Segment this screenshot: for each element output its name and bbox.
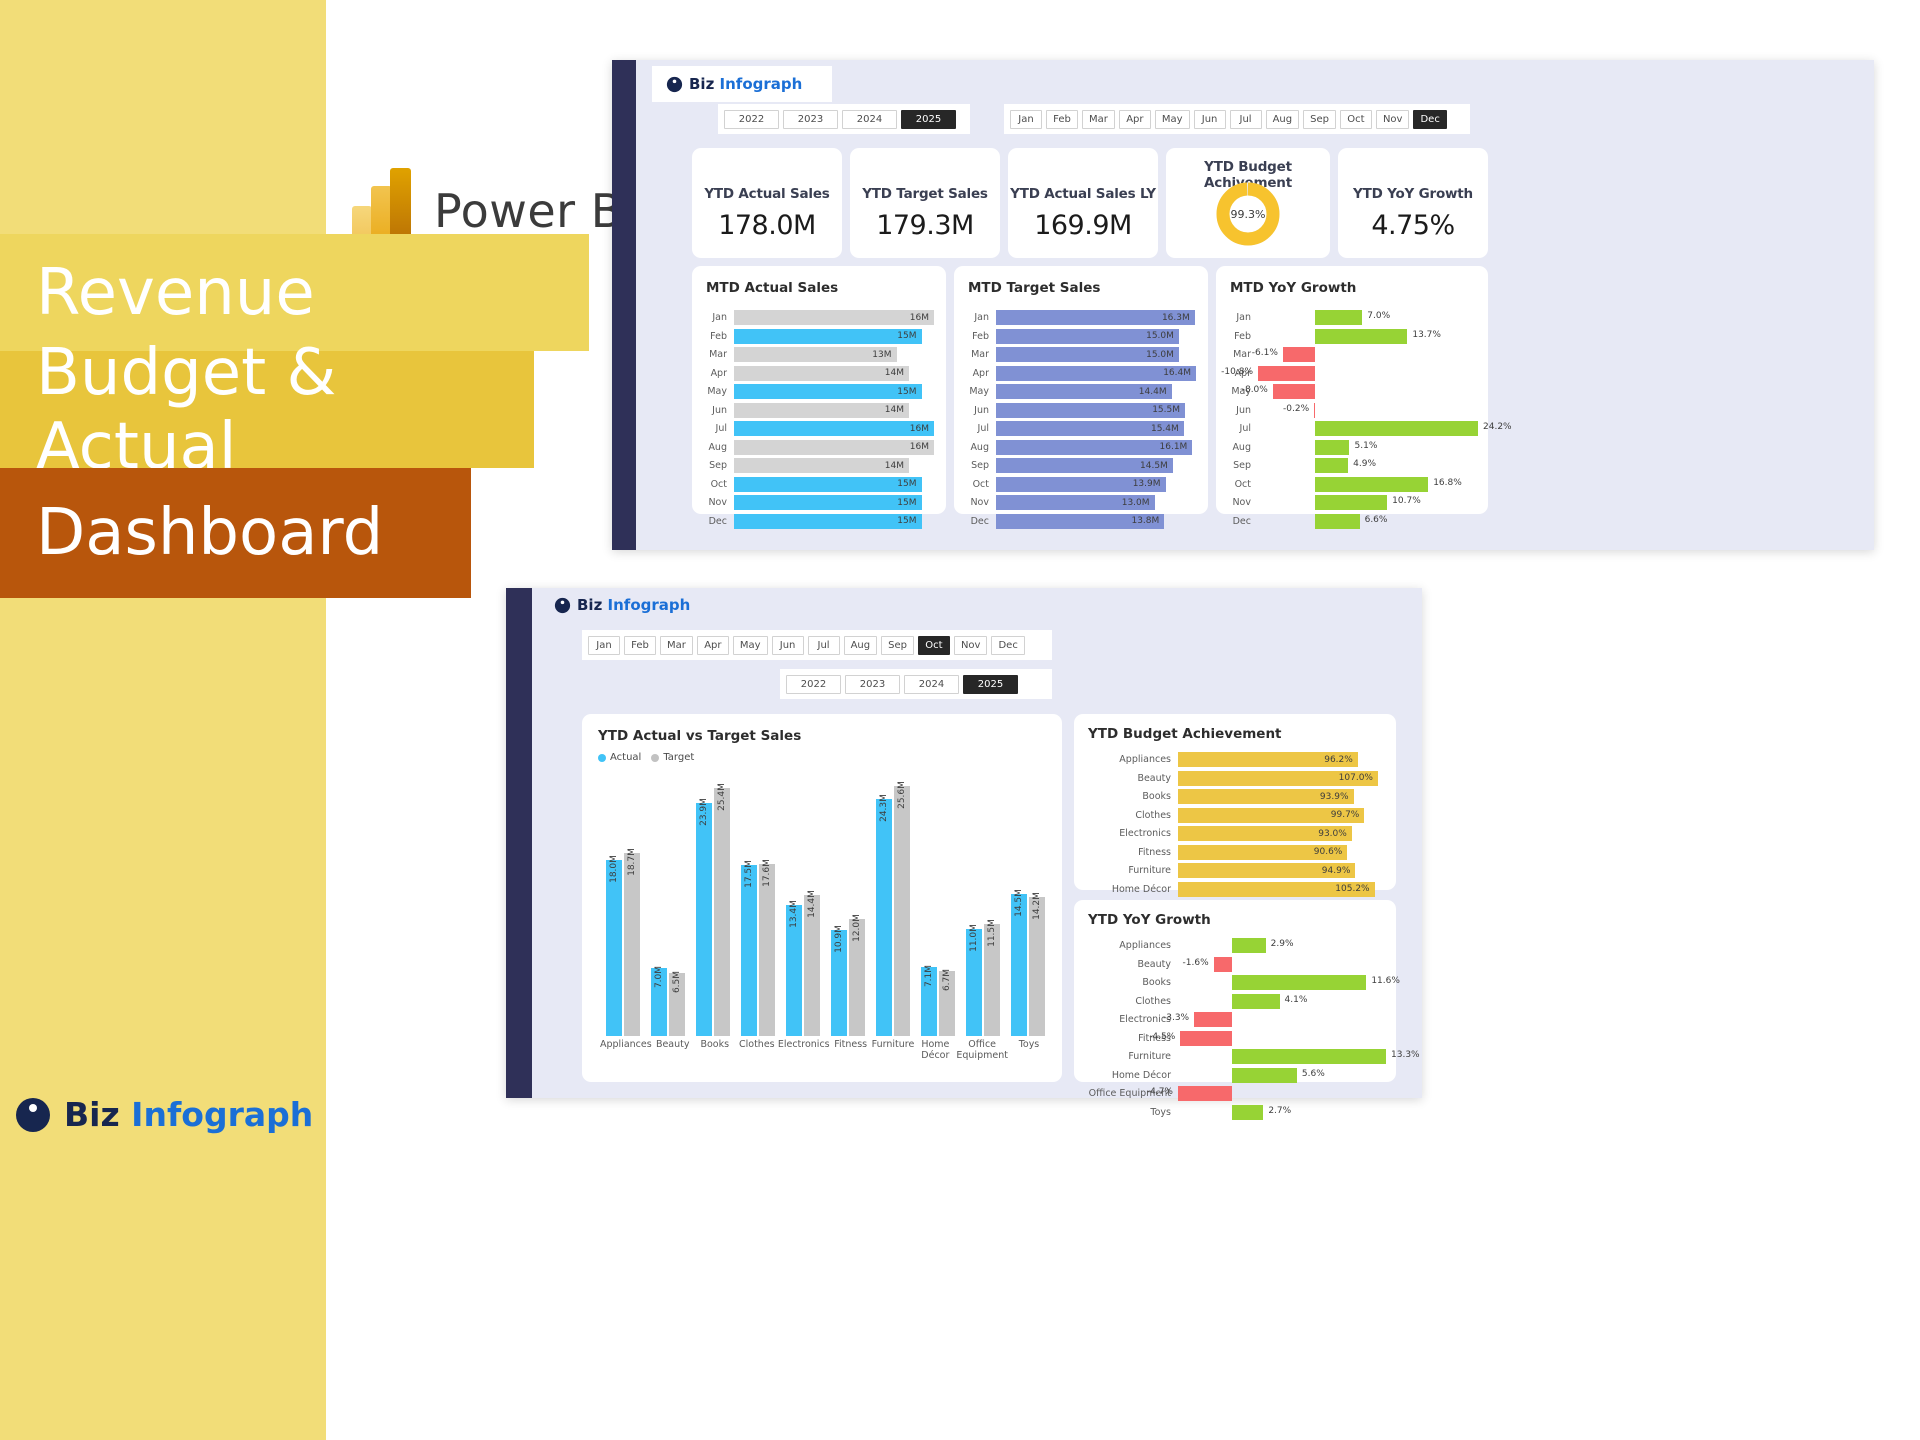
month-option-feb[interactable]: Feb <box>624 636 656 655</box>
month-option-feb[interactable]: Feb <box>1046 110 1078 129</box>
bar-row-fill: 99.7% <box>1178 808 1364 823</box>
column-bar-value: 14.5M <box>1014 890 1024 918</box>
bar-row-track: 15.5M <box>996 403 1196 418</box>
bar-row-label: Apr <box>962 368 996 379</box>
month-option-jul[interactable]: Jul <box>1230 110 1262 129</box>
column-category-label: Books <box>694 1040 736 1070</box>
column-bar-target: 18.7M <box>624 853 640 1036</box>
kpi-value: 4.75% <box>1338 210 1488 241</box>
month-option-oct[interactable]: Oct <box>1340 110 1372 129</box>
bar-row-label: Home Décor <box>1082 884 1178 895</box>
diverging-bar-row: Jun-0.2% <box>1224 403 1478 418</box>
bar-row: Mar15.0M <box>962 347 1196 362</box>
promo-title-line-2: Budget & Actual <box>0 351 534 468</box>
bar-row-track: 15.0M <box>996 347 1196 362</box>
actual-vs-target-category-axis: AppliancesBeautyBooksClothesElectronicsF… <box>600 1040 1050 1070</box>
bottom-year-slicer[interactable]: 2022202320242025 <box>780 669 1052 699</box>
month-option-may[interactable]: May <box>1155 110 1190 129</box>
column-bar-target: 6.7M <box>939 971 955 1036</box>
column-group: 11.0M11.5M <box>960 924 1005 1036</box>
chart-card-mtd-target-sales: MTD Target Sales Jan16.3MFeb15.0MMar15.0… <box>954 266 1208 514</box>
diverging-bar-row: May-8.0% <box>1224 384 1478 399</box>
bar-row-value: 15M <box>897 331 921 341</box>
kpi-title: YTD Actual Sales <box>692 186 842 202</box>
month-option-jun[interactable]: Jun <box>1194 110 1226 129</box>
diverging-bar-value: 24.2% <box>1483 422 1512 432</box>
dashboard-mockup-page: Power BI Revenue Budget & Actual Dashboa… <box>0 0 1920 1440</box>
year-option-2023[interactable]: 2023 <box>783 110 838 129</box>
kpi-value: 179.3M <box>850 210 1000 241</box>
diverging-bar-label: Toys <box>1082 1107 1178 1118</box>
column-bar-target: 25.6M <box>894 786 910 1036</box>
logo-biz: Biz <box>689 75 714 93</box>
diverging-bar-row: Oct16.8% <box>1224 477 1478 492</box>
diverging-bar-track: 11.6% <box>1178 975 1386 990</box>
bar-row-track: 15M <box>734 477 934 492</box>
diverging-bar-fill <box>1232 1068 1297 1083</box>
bar-row-fill: 14M <box>734 403 909 418</box>
bar-row-value: 13.8M <box>1131 516 1164 526</box>
diverging-bar-value: -3.3% <box>1163 1013 1189 1023</box>
year-option-2023[interactable]: 2023 <box>845 675 900 694</box>
bar-row-track: 16M <box>734 440 934 455</box>
bar-row-label: Clothes <box>1082 810 1178 821</box>
bar-row: Nov13.0M <box>962 495 1196 510</box>
chart-title: MTD YoY Growth <box>1230 280 1488 296</box>
bottom-dashboard-logo: Biz Infograph <box>554 596 690 614</box>
diverging-bar-row: Fitness-4.5% <box>1082 1031 1386 1046</box>
top-dashboard: Biz Infograph ... 2022202320242025 JanFe… <box>612 60 1874 550</box>
diverging-bar-track: 4.1% <box>1178 994 1386 1009</box>
column-bar-value: 23.9M <box>699 798 709 826</box>
diverging-bar-fill <box>1214 957 1232 972</box>
bar-row-track: 14.5M <box>996 458 1196 473</box>
chart-title: YTD Actual vs Target Sales <box>598 728 1062 744</box>
bar-row-value: 15.0M <box>1146 350 1179 360</box>
bar-row: Oct13.9M <box>962 477 1196 492</box>
column-category-label: Beauty <box>652 1040 694 1070</box>
diverging-bar-row: Aug5.1% <box>1224 440 1478 455</box>
diverging-bar-row: Mar-6.1% <box>1224 347 1478 362</box>
month-option-may[interactable]: May <box>733 636 768 655</box>
bar-row-label: Furniture <box>1082 865 1178 876</box>
diverging-bar-row: Appliances2.9% <box>1082 938 1386 953</box>
bar-row: Fitness90.6% <box>1082 845 1378 860</box>
top-dashboard-logo-text: Biz Infograph <box>689 75 802 93</box>
column-bar-actual: 13.4M <box>786 905 802 1036</box>
bar-row: Sep14.5M <box>962 458 1196 473</box>
diverging-bar-track: 5.1% <box>1258 440 1478 455</box>
column-bar-actual: 11.0M <box>966 929 982 1036</box>
bar-row-value: 15.4M <box>1151 424 1184 434</box>
diverging-bar-label: Home Décor <box>1082 1070 1178 1081</box>
bar-row-value: 15M <box>897 387 921 397</box>
bar-row-fill: 16M <box>734 421 934 436</box>
bottom-dashboard: Biz Infograph JanFebMarAprMayJunJulAugSe… <box>506 588 1422 1098</box>
top-year-slicer[interactable]: 2022202320242025 <box>718 104 970 134</box>
bar-row-label: Books <box>1082 791 1178 802</box>
diverging-bar-track: 6.6% <box>1258 514 1478 529</box>
mtd-yoy-growth-bar-list: Jan7.0%Feb13.7%Mar-6.1%Apr-10.8%May-8.0%… <box>1224 310 1478 529</box>
column-bar-actual: 17.5M <box>741 865 757 1036</box>
bar-row-value: 16M <box>910 442 934 452</box>
bar-row-track: 90.6% <box>1178 845 1378 860</box>
column-bar-value: 14.2M <box>1032 892 1042 920</box>
year-option-2025[interactable]: 2025 <box>901 110 956 129</box>
month-option-jun[interactable]: Jun <box>772 636 804 655</box>
bar-row: May15M <box>700 384 934 399</box>
column-bar-value: 12.0M <box>852 914 862 942</box>
bar-row-fill: 15.0M <box>996 347 1179 362</box>
footer-logo-biz: Biz <box>64 1095 120 1134</box>
bar-row-label: Fitness <box>1082 847 1178 858</box>
bar-row-value: 15M <box>897 498 921 508</box>
kpi-title: YTD Target Sales <box>850 186 1000 202</box>
diverging-bar-track: 2.7% <box>1178 1105 1386 1120</box>
bar-row-label: Mar <box>700 349 734 360</box>
diverging-bar-label: Jan <box>1224 312 1258 323</box>
diverging-bar-row: Jul24.2% <box>1224 421 1478 436</box>
bottom-month-slicer[interactable]: JanFebMarAprMayJunJulAugSepOctNovDec <box>582 630 1052 660</box>
bar-row-value: 16.4M <box>1163 368 1196 378</box>
kpi-card-ytd-budget-achievement: YTD Budget Achivement 99.3% <box>1166 148 1330 258</box>
bar-row-value: 13M <box>872 350 896 360</box>
diverging-bar-label: Books <box>1082 977 1178 988</box>
chart-title: MTD Target Sales <box>968 280 1208 296</box>
month-option-mar[interactable]: Mar <box>660 636 693 655</box>
bar-row: Jul15.4M <box>962 421 1196 436</box>
bar-row-label: Oct <box>700 479 734 490</box>
bar-row-fill: 16.3M <box>996 310 1195 325</box>
column-category-label: Appliances <box>600 1040 652 1070</box>
month-option-mar[interactable]: Mar <box>1082 110 1115 129</box>
bar-row-label: Appliances <box>1082 754 1178 765</box>
bar-row-track: 13.0M <box>996 495 1196 510</box>
biz-infograph-footer-logo: Biz Infograph <box>14 1095 313 1134</box>
year-option-2022[interactable]: 2022 <box>724 110 779 129</box>
bar-row-track: 16M <box>734 421 934 436</box>
diverging-bar-value: 5.1% <box>1355 441 1378 451</box>
diverging-bar-row: Sep4.9% <box>1224 458 1478 473</box>
bar-row-value: 14.4M <box>1139 387 1172 397</box>
column-bar-actual: 23.9M <box>696 803 712 1036</box>
diverging-bar-row: Office Equipment-4.7% <box>1082 1086 1386 1101</box>
bar-row: Dec15M <box>700 514 934 529</box>
bar-row: Electronics93.0% <box>1082 826 1378 841</box>
column-bar-value: 7.1M <box>924 965 934 987</box>
footer-logo-infograph: Infograph <box>131 1095 313 1134</box>
diverging-bar-value: -8.0% <box>1242 385 1268 395</box>
month-option-nov[interactable]: Nov <box>954 636 988 655</box>
bar-row-label: Jun <box>962 405 996 416</box>
bar-row-track: 105.2% <box>1178 882 1378 897</box>
diverging-bar-fill <box>1180 1031 1232 1046</box>
bar-row-track: 16M <box>734 310 934 325</box>
bar-row-value: 93.9% <box>1320 792 1354 802</box>
bar-row-track: 93.9% <box>1178 789 1378 804</box>
diverging-bar-value: -4.7% <box>1147 1087 1173 1097</box>
bar-row-value: 16M <box>910 313 934 323</box>
bar-row: Books93.9% <box>1082 789 1378 804</box>
bar-row-track: 16.4M <box>996 366 1196 381</box>
bar-row-value: 16M <box>910 424 934 434</box>
bar-row-label: Oct <box>962 479 996 490</box>
kpi-card-ytd-yoy-growth: YTD YoY Growth 4.75% <box>1338 148 1488 258</box>
bar-row-track: 15M <box>734 329 934 344</box>
bar-row: Feb15M <box>700 329 934 344</box>
bar-row: Home Décor105.2% <box>1082 882 1378 897</box>
bar-row-label: Aug <box>962 442 996 453</box>
kpi-title: YTD YoY Growth <box>1338 186 1488 202</box>
power-bi-label: Power BI <box>434 184 637 238</box>
chart-card-ytd-yoy-growth: YTD YoY Growth Appliances2.9%Beauty-1.6%… <box>1074 900 1396 1082</box>
diverging-bar-track: 24.2% <box>1258 421 1478 436</box>
bar-row-track: 15M <box>734 384 934 399</box>
bar-row-fill: 15M <box>734 514 922 529</box>
bar-row-fill: 15M <box>734 384 922 399</box>
diverging-bar-track: 10.7% <box>1258 495 1478 510</box>
promo-title-line-1: Revenue <box>0 234 589 351</box>
year-option-2024[interactable]: 2024 <box>842 110 897 129</box>
legend-dot-target <box>651 754 659 762</box>
diverging-bar-fill <box>1283 347 1315 362</box>
diverging-bar-value: 10.7% <box>1392 496 1421 506</box>
bar-row-fill: 14.5M <box>996 458 1173 473</box>
column-bar-value: 11.5M <box>987 919 997 947</box>
month-option-sep[interactable]: Sep <box>881 636 914 655</box>
year-option-2025[interactable]: 2025 <box>963 675 1018 694</box>
bar-row-label: Aug <box>700 442 734 453</box>
bar-row-label: Jun <box>700 405 734 416</box>
bar-row: Sep14M <box>700 458 934 473</box>
bar-row-label: Jan <box>962 312 996 323</box>
diverging-bar-fill <box>1314 403 1315 418</box>
column-group: 14.5M14.2M <box>1005 894 1050 1036</box>
bar-row-fill: 90.6% <box>1178 845 1347 860</box>
bar-row-fill: 107.0% <box>1178 771 1378 786</box>
bar-row-value: 105.2% <box>1335 884 1374 894</box>
month-option-dec[interactable]: Dec <box>1413 110 1446 129</box>
promo-title-line-2-text: Budget & Actual <box>36 336 534 484</box>
bottom-dashboard-logo-text: Biz Infograph <box>577 596 690 614</box>
year-option-2022[interactable]: 2022 <box>786 675 841 694</box>
diverging-bar-track: -4.5% <box>1178 1031 1386 1046</box>
bar-row: Jan16.3M <box>962 310 1196 325</box>
diverging-bar-row: Electronics-3.3% <box>1082 1012 1386 1027</box>
bar-row-track: 94.9% <box>1178 863 1378 878</box>
bar-row-track: 107.0% <box>1178 771 1378 786</box>
bar-row-value: 14M <box>885 405 909 415</box>
bar-row-fill: 15M <box>734 477 922 492</box>
column-bar-target: 12.0M <box>849 919 865 1036</box>
column-bar-value: 24.3M <box>879 794 889 822</box>
bar-row-track: 15M <box>734 514 934 529</box>
column-group: 7.0M6.5M <box>645 968 690 1036</box>
diverging-bar-value: 2.9% <box>1271 939 1294 949</box>
diverging-bar-fill <box>1232 975 1366 990</box>
column-bar-value: 6.5M <box>672 970 682 992</box>
diverging-bar-fill <box>1178 1086 1232 1101</box>
biz-infograph-pie-icon <box>14 1096 52 1134</box>
bar-row-label: Nov <box>700 497 734 508</box>
diverging-bar-label: Beauty <box>1082 959 1178 970</box>
bar-row-fill: 16M <box>734 310 934 325</box>
bar-row-label: Beauty <box>1082 773 1178 784</box>
diverging-bar-fill <box>1315 514 1359 529</box>
column-bar-actual: 10.9M <box>831 930 847 1036</box>
promo-title-line-3: Dashboard <box>0 468 471 598</box>
column-bar-value: 6.7M <box>942 969 952 991</box>
chart-card-mtd-yoy-growth: MTD YoY Growth Jan7.0%Feb13.7%Mar-6.1%Ap… <box>1216 266 1488 514</box>
mtd-actual-sales-bar-list: Jan16MFeb15MMar13MApr14MMay15MJun14MJul1… <box>700 310 934 529</box>
legend-label-actual: Actual <box>610 752 641 763</box>
bar-row-fill: 13.9M <box>996 477 1166 492</box>
bar-row-label: Feb <box>962 331 996 342</box>
month-option-nov[interactable]: Nov <box>1376 110 1410 129</box>
bar-row-label: Nov <box>962 497 996 508</box>
diverging-bar-fill <box>1315 329 1407 344</box>
biz-infograph-pie-icon <box>554 597 571 614</box>
column-bar-value: 17.5M <box>744 860 754 888</box>
column-bar-value: 11.0M <box>969 924 979 952</box>
bar-row-fill: 16.4M <box>996 366 1196 381</box>
diverging-bar-label: Dec <box>1224 516 1258 527</box>
donut-center-label: 99.3% <box>1216 182 1280 246</box>
bar-row-track: 16.1M <box>996 440 1196 455</box>
column-category-label: Office Equipment <box>956 1040 1008 1070</box>
diverging-bar-value: 16.8% <box>1433 478 1462 488</box>
bar-row: Jun15.5M <box>962 403 1196 418</box>
column-bar-target: 6.5M <box>669 973 685 1036</box>
chart-title: YTD Budget Achievement <box>1088 726 1396 742</box>
month-option-jan[interactable]: Jan <box>1010 110 1042 129</box>
bar-row: Mar13M <box>700 347 934 362</box>
bar-row-fill: 13.8M <box>996 514 1164 529</box>
bar-row-label: Jul <box>962 423 996 434</box>
diverging-bar-value: -6.1% <box>1252 348 1278 358</box>
month-option-jul[interactable]: Jul <box>808 636 840 655</box>
kpi-card-ytd-target-sales: YTD Target Sales 179.3M <box>850 148 1000 258</box>
diverging-bar-fill <box>1232 1049 1386 1064</box>
diverging-bar-label: Furniture <box>1082 1051 1178 1062</box>
legend-label-target: Target <box>663 752 694 763</box>
column-bar-actual: 7.0M <box>651 968 667 1036</box>
column-bar-target: 17.6M <box>759 864 775 1036</box>
bar-row-value: 14M <box>885 461 909 471</box>
bar-row: Beauty107.0% <box>1082 771 1378 786</box>
bar-row-track: 14M <box>734 458 934 473</box>
diverging-bar-label: Appliances <box>1082 940 1178 951</box>
month-option-aug[interactable]: Aug <box>1266 110 1300 129</box>
month-option-apr[interactable]: Apr <box>1119 110 1151 129</box>
diverging-bar-row: Apr-10.8% <box>1224 366 1478 381</box>
diverging-bar-track: 2.9% <box>1178 938 1386 953</box>
bar-row-label: Jan <box>700 312 734 323</box>
legend-item-target: Target <box>651 752 694 763</box>
bar-row-label: Mar <box>962 349 996 360</box>
column-bar-actual: 7.1M <box>921 967 937 1036</box>
bar-row-value: 94.9% <box>1322 866 1356 876</box>
column-bar-actual: 24.3M <box>876 799 892 1036</box>
kpi-title: YTD Actual Sales LY <box>1008 186 1158 202</box>
actual-vs-target-legend: Actual Target <box>598 752 1062 763</box>
top-month-slicer[interactable]: JanFebMarAprMayJunJulAugSepOctNovDec <box>1004 104 1470 134</box>
column-category-label: Toys <box>1008 1040 1050 1070</box>
month-option-dec[interactable]: Dec <box>991 636 1024 655</box>
bar-row-value: 15M <box>897 479 921 489</box>
bar-row-label: Dec <box>962 516 996 527</box>
bar-row-fill: 16M <box>734 440 934 455</box>
diverging-bar-label: Feb <box>1224 331 1258 342</box>
column-bar-value: 14.4M <box>807 890 817 918</box>
diverging-bar-value: -4.5% <box>1149 1032 1175 1042</box>
bar-row: Feb15.0M <box>962 329 1196 344</box>
column-bar-value: 13.4M <box>789 900 799 928</box>
bar-row-label: Dec <box>700 516 734 527</box>
column-bar-value: 10.9M <box>834 925 844 953</box>
diverging-bar-track: 5.6% <box>1178 1068 1386 1083</box>
diverging-bar-value: 4.9% <box>1353 459 1376 469</box>
bar-row-fill: 16.1M <box>996 440 1192 455</box>
biz-infograph-pie-icon <box>666 76 683 93</box>
kpi-card-ytd-actual-sales: YTD Actual Sales 178.0M <box>692 148 842 258</box>
bar-row: Nov15M <box>700 495 934 510</box>
column-bar-target: 25.4M <box>714 788 730 1036</box>
diverging-bar-fill <box>1194 1012 1232 1027</box>
month-option-jan[interactable]: Jan <box>588 636 620 655</box>
column-bar-actual: 14.5M <box>1011 894 1027 1036</box>
bar-row-value: 90.6% <box>1314 847 1348 857</box>
bar-row-fill: 15M <box>734 495 922 510</box>
diverging-bar-track: -3.3% <box>1178 1012 1386 1027</box>
bar-row-fill: 93.9% <box>1178 789 1354 804</box>
diverging-bar-label: Aug <box>1224 442 1258 453</box>
column-group: 17.5M17.6M <box>735 864 780 1036</box>
chart-card-ytd-actual-vs-target: YTD Actual vs Target Sales Actual Target… <box>582 714 1062 1082</box>
column-category-label: Fitness <box>830 1040 872 1070</box>
promo-title-line-3-text: Dashboard <box>36 496 383 570</box>
bar-row-track: 14M <box>734 403 934 418</box>
bar-row-track: 14.4M <box>996 384 1196 399</box>
column-bar-value: 18.7M <box>627 848 637 876</box>
diverging-bar-value: -0.2% <box>1283 404 1309 414</box>
bar-row-fill: 15.0M <box>996 329 1179 344</box>
bar-row: Jan16M <box>700 310 934 325</box>
month-option-apr[interactable]: Apr <box>697 636 729 655</box>
year-option-2024[interactable]: 2024 <box>904 675 959 694</box>
diverging-bar-fill <box>1232 938 1266 953</box>
bar-row-fill: 15M <box>734 329 922 344</box>
column-group: 18.0M18.7M <box>600 853 645 1036</box>
bar-row-label: May <box>700 386 734 397</box>
diverging-bar-row: Jan7.0% <box>1224 310 1478 325</box>
diverging-bar-fill <box>1315 477 1428 492</box>
diverging-bar-fill <box>1232 1105 1263 1120</box>
month-option-aug[interactable]: Aug <box>844 636 878 655</box>
diverging-bar-value: 2.7% <box>1268 1106 1291 1116</box>
diverging-bar-track: 13.7% <box>1258 329 1478 344</box>
diverging-bar-row: Dec6.6% <box>1224 514 1478 529</box>
chart-title: YTD YoY Growth <box>1088 912 1396 928</box>
bar-row-fill: 15.4M <box>996 421 1184 436</box>
bar-row: Apr16.4M <box>962 366 1196 381</box>
month-option-sep[interactable]: Sep <box>1303 110 1336 129</box>
diverging-bar-label: Nov <box>1224 497 1258 508</box>
bar-row-fill: 13.0M <box>996 495 1155 510</box>
diverging-bar-label: Jul <box>1224 423 1258 434</box>
diverging-bar-row: Beauty-1.6% <box>1082 957 1386 972</box>
month-option-oct[interactable]: Oct <box>918 636 950 655</box>
